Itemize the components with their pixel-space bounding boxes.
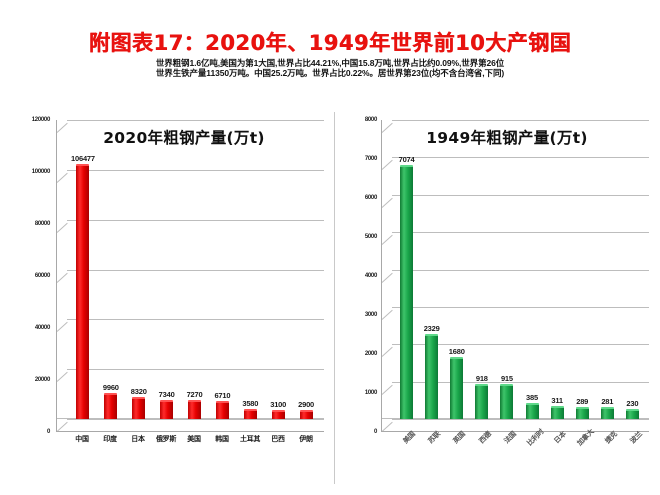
x-label-cell: 法国 bbox=[494, 434, 519, 444]
chart-1949-bars: 707423291680918915385311289281230 bbox=[394, 120, 645, 419]
bar-item[interactable]: 289 bbox=[570, 120, 595, 419]
x-label-cell: 波兰 bbox=[620, 434, 645, 444]
bar-item[interactable]: 311 bbox=[545, 120, 570, 419]
bar-value-label: 7270 bbox=[187, 390, 203, 399]
bar-value-label: 106477 bbox=[71, 154, 95, 163]
bar[interactable] bbox=[526, 403, 539, 419]
depth-tick bbox=[382, 384, 393, 394]
depth-tick bbox=[57, 222, 68, 232]
bar[interactable] bbox=[272, 410, 285, 419]
x-tick-label: 西德 bbox=[476, 429, 493, 446]
subtitle-line-1: 世界粗钢1.6亿吨,美国为第1大国,世界占比44.21%,中国15.8万吨,世界… bbox=[0, 58, 660, 68]
y-tick-label: 80000 bbox=[35, 221, 50, 227]
x-tick-label: 土耳其 bbox=[240, 434, 260, 444]
bar-item[interactable]: 915 bbox=[494, 120, 519, 419]
x-tick-label: 英国 bbox=[451, 429, 468, 446]
slide-canvas: 附图表17：2020年、1949年世界前10大产钢国 世界粗钢1.6亿吨,美国为… bbox=[0, 0, 660, 495]
bar-item[interactable]: 385 bbox=[519, 120, 544, 419]
x-label-cell: 日本 bbox=[544, 434, 569, 444]
chart-2020-y-axis: 120000100000800006000040000200000 bbox=[8, 120, 54, 432]
depth-tick bbox=[382, 198, 393, 208]
x-tick-label: 捷克 bbox=[602, 429, 619, 446]
bar[interactable] bbox=[188, 400, 201, 419]
bar-item[interactable]: 9960 bbox=[97, 120, 125, 419]
y-tick-label: 100000 bbox=[32, 169, 50, 175]
bar-value-label: 6710 bbox=[214, 391, 230, 400]
depth-tick bbox=[57, 123, 68, 133]
y-tick-label: 60000 bbox=[35, 273, 50, 279]
bar-item[interactable]: 106477 bbox=[69, 120, 97, 419]
x-label-cell: 英国 bbox=[443, 434, 468, 444]
bar-item[interactable]: 7340 bbox=[153, 120, 181, 419]
bar-value-label: 918 bbox=[476, 374, 488, 383]
bar[interactable] bbox=[104, 393, 117, 419]
chart-1949-x-axis: 美国苏联英国西德法国比利时日本加拿大捷克波兰 bbox=[381, 432, 649, 484]
x-tick-label: 美国 bbox=[401, 429, 418, 446]
bar-value-label: 8320 bbox=[131, 387, 147, 396]
bar[interactable] bbox=[601, 407, 614, 419]
bar-value-label: 311 bbox=[551, 396, 563, 405]
x-tick-label: 印度 bbox=[103, 434, 116, 444]
x-tick-label: 法国 bbox=[502, 429, 519, 446]
y-tick-label: 0 bbox=[47, 429, 50, 435]
chart-2020-x-axis: 中国印度日本俄罗斯美国韩国土耳其巴西伊朗 bbox=[56, 432, 324, 484]
x-label-cell: 韩国 bbox=[208, 434, 236, 444]
depth-tick bbox=[382, 272, 393, 282]
axis-floor bbox=[57, 418, 324, 431]
bar-item[interactable]: 3580 bbox=[236, 120, 264, 419]
x-label-cell: 苏联 bbox=[418, 434, 443, 444]
bar-item[interactable]: 281 bbox=[595, 120, 620, 419]
y-tick-label: 0 bbox=[374, 429, 377, 435]
bar[interactable] bbox=[300, 410, 313, 419]
y-tick-label: 7000 bbox=[365, 156, 377, 162]
x-tick-label: 美国 bbox=[187, 434, 200, 444]
x-tick-label: 伊朗 bbox=[299, 434, 312, 444]
chart-1949-plot-area: 707423291680918915385311289281230 bbox=[381, 120, 649, 432]
x-tick-label: 日本 bbox=[552, 429, 569, 446]
bar[interactable] bbox=[475, 384, 488, 419]
bar[interactable] bbox=[425, 334, 438, 419]
x-label-cell: 伊朗 bbox=[292, 434, 320, 444]
bar-item[interactable]: 1680 bbox=[444, 120, 469, 419]
depth-tick bbox=[382, 310, 393, 320]
y-tick-label: 6000 bbox=[365, 195, 377, 201]
charts-container: 120000100000800006000040000200000 106477… bbox=[0, 112, 660, 484]
subtitle-block: 世界粗钢1.6亿吨,美国为第1大国,世界占比44.21%,中国15.8万吨,世界… bbox=[0, 58, 660, 79]
bar[interactable] bbox=[160, 400, 173, 419]
depth-tick bbox=[57, 173, 68, 183]
depth-tick bbox=[382, 347, 393, 357]
x-tick-label: 俄罗斯 bbox=[156, 434, 176, 444]
x-tick-label: 中国 bbox=[75, 434, 88, 444]
bar[interactable] bbox=[450, 357, 463, 419]
bar[interactable] bbox=[244, 409, 257, 420]
x-label-cell: 捷克 bbox=[595, 434, 620, 444]
chart-1949-x-labels: 美国苏联英国西德法国比利时日本加拿大捷克波兰 bbox=[393, 434, 645, 444]
bar-item[interactable]: 7270 bbox=[181, 120, 209, 419]
chart-1949: 800070006000500040003000200010000 707423… bbox=[334, 112, 655, 484]
bar-value-label: 289 bbox=[576, 397, 588, 406]
bar-item[interactable]: 8320 bbox=[125, 120, 153, 419]
x-label-cell: 印度 bbox=[96, 434, 124, 444]
bar-value-label: 915 bbox=[501, 374, 513, 383]
bar-value-label: 281 bbox=[601, 397, 613, 406]
bar[interactable] bbox=[216, 401, 229, 419]
bar-item[interactable]: 6710 bbox=[208, 120, 236, 419]
x-tick-label: 巴西 bbox=[271, 434, 284, 444]
x-label-cell: 美国 bbox=[180, 434, 208, 444]
bar-value-label: 1680 bbox=[449, 347, 465, 356]
x-label-cell: 西德 bbox=[469, 434, 494, 444]
bar[interactable] bbox=[626, 409, 639, 419]
x-label-cell: 比利时 bbox=[519, 434, 544, 444]
x-label-cell: 美国 bbox=[393, 434, 418, 444]
x-label-cell: 俄罗斯 bbox=[152, 434, 180, 444]
depth-tick bbox=[57, 372, 68, 382]
chart-1949-y-axis: 800070006000500040003000200010000 bbox=[335, 120, 381, 432]
y-tick-label: 120000 bbox=[32, 117, 50, 123]
y-tick-label: 20000 bbox=[35, 377, 50, 383]
y-tick-label: 4000 bbox=[365, 273, 377, 279]
x-label-cell: 日本 bbox=[124, 434, 152, 444]
bar-item[interactable]: 3100 bbox=[264, 120, 292, 419]
y-tick-label: 2000 bbox=[365, 351, 377, 357]
y-tick-label: 5000 bbox=[365, 234, 377, 240]
depth-tick bbox=[382, 123, 393, 133]
subtitle-line-2: 世界生铁产量11350万吨。中国25.2万吨。世界占比0.22%。居世界第23位… bbox=[0, 68, 660, 78]
x-tick-label: 韩国 bbox=[215, 434, 228, 444]
chart-2020-plot-area: 10647799608320734072706710358031002900 bbox=[56, 120, 324, 432]
depth-tick bbox=[382, 235, 393, 245]
x-tick-label: 日本 bbox=[131, 434, 144, 444]
axis-floor bbox=[382, 418, 649, 431]
page-title: 附图表17：2020年、1949年世界前10大产钢国 bbox=[0, 32, 660, 55]
chart-2020-x-labels: 中国印度日本俄罗斯美国韩国土耳其巴西伊朗 bbox=[68, 434, 320, 444]
bar[interactable] bbox=[500, 384, 513, 419]
bar[interactable] bbox=[76, 164, 89, 419]
depth-tick bbox=[57, 272, 68, 282]
bar-value-label: 230 bbox=[626, 399, 638, 408]
bar-item[interactable]: 918 bbox=[469, 120, 494, 419]
bar[interactable] bbox=[576, 407, 589, 419]
x-label-cell: 巴西 bbox=[264, 434, 292, 444]
bar-item[interactable]: 2900 bbox=[292, 120, 320, 419]
chart-2020-bars: 10647799608320734072706710358031002900 bbox=[69, 120, 320, 419]
x-label-cell: 土耳其 bbox=[236, 434, 264, 444]
depth-tick bbox=[57, 322, 68, 332]
bar-value-label: 2329 bbox=[424, 324, 440, 333]
depth-tick bbox=[382, 160, 393, 170]
x-label-cell: 中国 bbox=[68, 434, 96, 444]
bar-item[interactable]: 230 bbox=[620, 120, 645, 419]
bar[interactable] bbox=[132, 397, 145, 419]
bar-item[interactable]: 7074 bbox=[394, 120, 419, 419]
y-tick-label: 3000 bbox=[365, 312, 377, 318]
header: 附图表17：2020年、1949年世界前10大产钢国 世界粗钢1.6亿吨,美国为… bbox=[0, 32, 660, 79]
bar-value-label: 7340 bbox=[159, 390, 175, 399]
y-tick-label: 40000 bbox=[35, 325, 50, 331]
y-tick-label: 8000 bbox=[365, 117, 377, 123]
bar-value-label: 7074 bbox=[399, 155, 415, 164]
bar-value-label: 9960 bbox=[103, 383, 119, 392]
bar-value-label: 2900 bbox=[298, 400, 314, 409]
bar-value-label: 385 bbox=[526, 393, 538, 402]
x-tick-label: 苏联 bbox=[426, 429, 443, 446]
bar-value-label: 3580 bbox=[242, 399, 258, 408]
y-tick-label: 1000 bbox=[365, 390, 377, 396]
bar-value-label: 3100 bbox=[270, 400, 286, 409]
bar[interactable] bbox=[400, 165, 413, 419]
bar[interactable] bbox=[551, 406, 564, 419]
x-label-cell: 加拿大 bbox=[569, 434, 594, 444]
bar-item[interactable]: 2329 bbox=[419, 120, 444, 419]
x-tick-label: 波兰 bbox=[628, 429, 645, 446]
chart-2020: 120000100000800006000040000200000 106477… bbox=[8, 112, 330, 484]
